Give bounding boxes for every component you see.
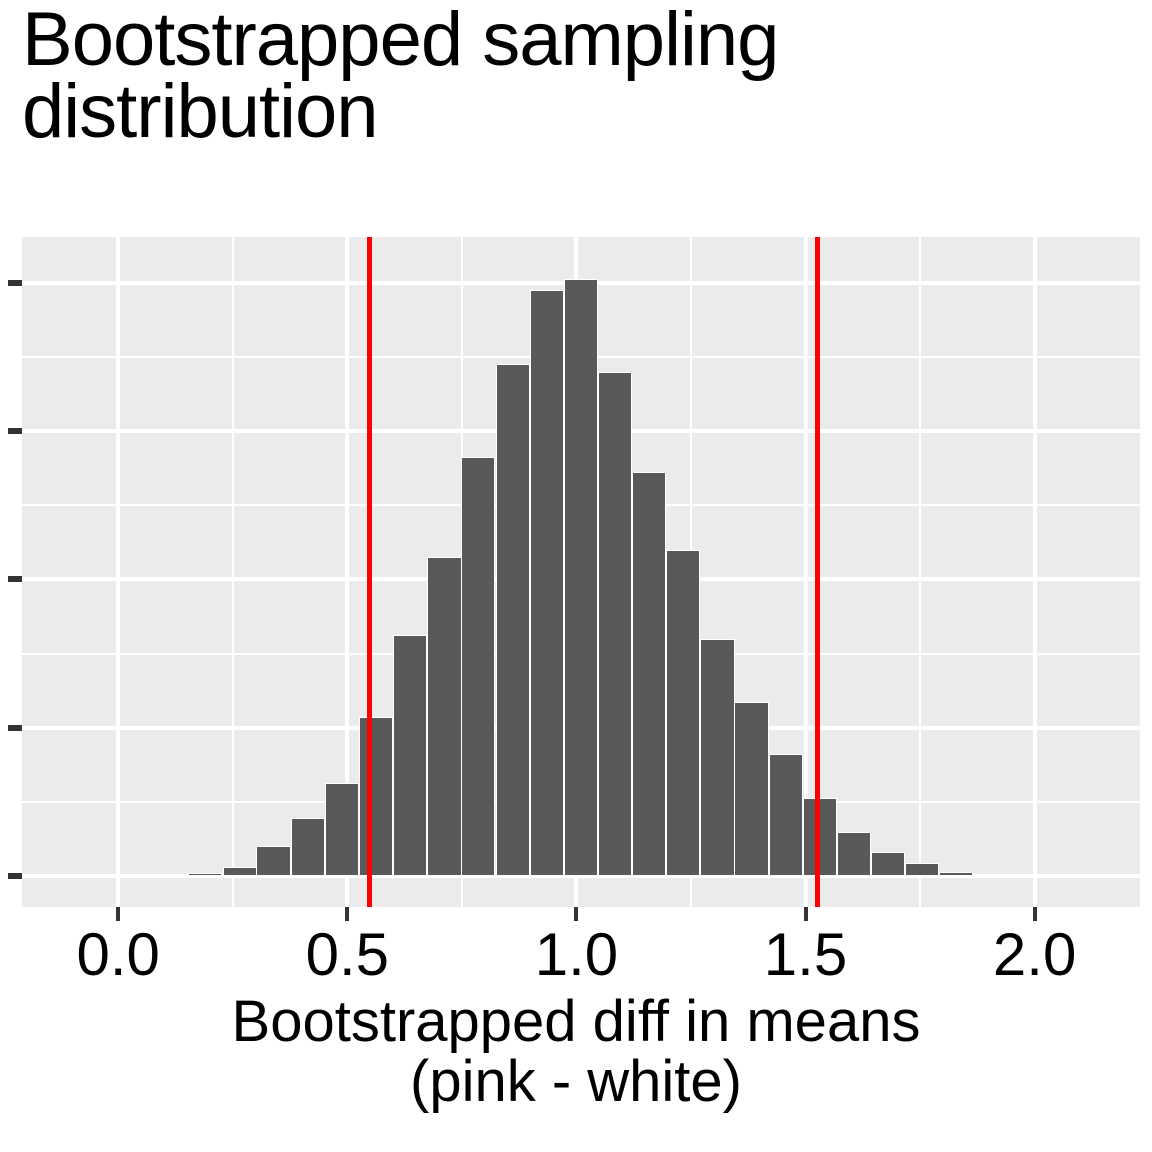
histogram-bar [666,550,700,876]
histogram-bar [700,639,734,876]
histogram-bar [325,783,359,876]
histogram-bar [769,754,803,876]
y-axis-tick [8,725,22,731]
histogram-bar [871,852,905,876]
page-title: Bootstrapped sampling distribution [22,4,1132,148]
y-axis-tick [8,280,22,286]
histogram-bar [939,872,973,876]
plot-panel [22,237,1140,907]
x-axis-tick [804,907,808,921]
histogram-bar [256,846,290,876]
x-axis-tick-label: 0.0 [77,920,160,989]
y-axis-tick [8,428,22,434]
chart-figure: Bootstrapped sampling distribution 0.00.… [0,0,1152,1152]
histogram-bar [393,635,427,876]
x-axis-tick-label: 0.5 [306,920,389,989]
x-axis-tick [116,907,120,921]
histogram-bar [564,279,598,876]
histogram-bar [530,290,564,876]
x-gridline-major [1033,237,1037,907]
histogram-bar [359,717,393,876]
x-axis-tick-label: 2.0 [993,920,1076,989]
x-axis-tick-label: 1.0 [535,920,618,989]
ci-bound-line-ci-upper [815,237,820,907]
histogram-bar [461,457,495,876]
y-axis-tick [8,576,22,582]
ci-bound-line-ci-lower [367,237,372,907]
histogram-bar [427,557,461,876]
histogram-bar [223,867,257,876]
histogram-bar [632,472,666,876]
x-axis-title: Bootstrapped diff in means (pink - white… [0,992,1152,1111]
histogram-bar [188,873,222,876]
x-gridline-minor [232,237,234,907]
x-gridline-major [116,237,120,907]
histogram-bar [905,863,939,876]
histogram-bar [837,832,871,876]
x-axis-tick [574,907,578,921]
x-gridline-minor [919,237,921,907]
x-axis-tick-label: 1.5 [764,920,847,989]
histogram-bar [496,364,530,876]
x-axis-tick [345,907,349,921]
x-axis-tick [1033,907,1037,921]
histogram-bar [734,702,768,876]
histogram-bar [291,818,325,876]
histogram-bar [598,372,632,876]
y-axis-tick [8,873,22,879]
